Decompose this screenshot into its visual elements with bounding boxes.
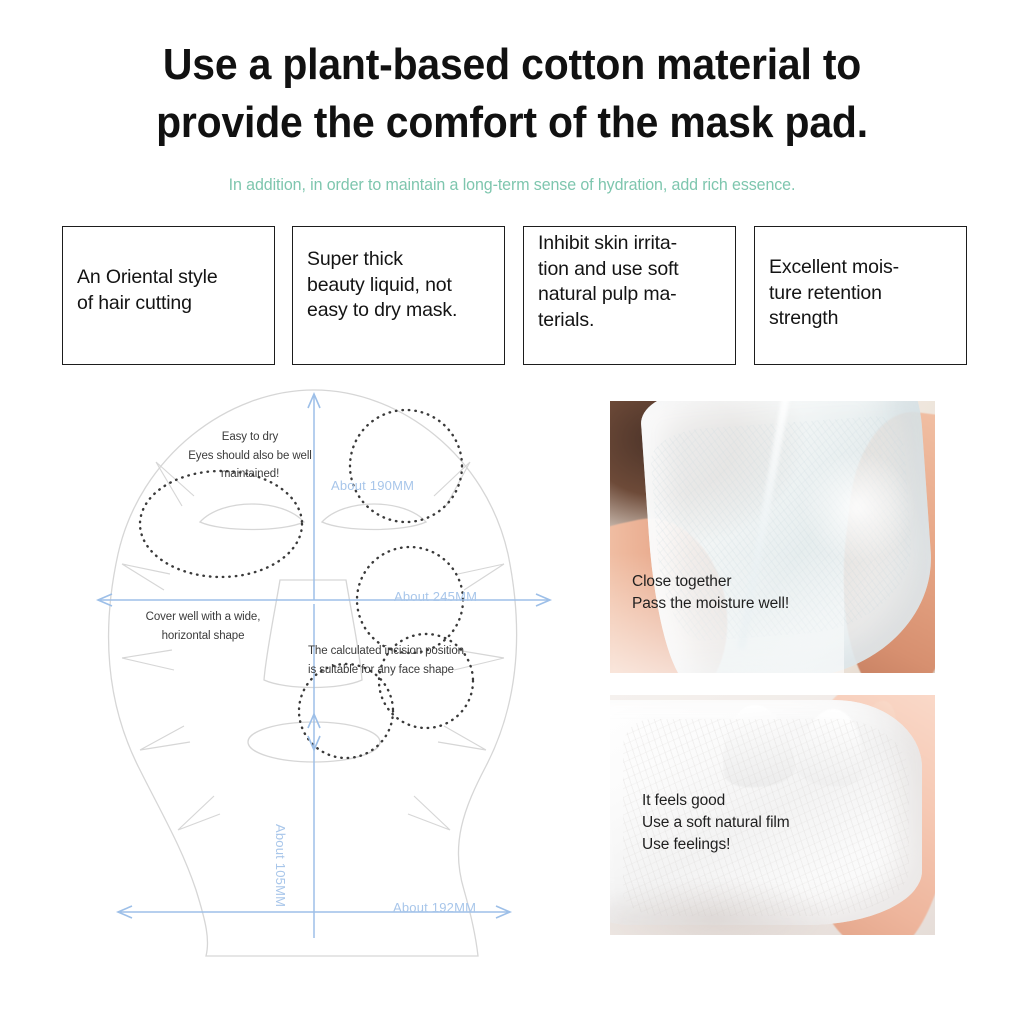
wet-sheet-mask-photo: Close together Pass the moisture well! bbox=[610, 401, 935, 673]
feature-box-4: Excellent mois- ture retention strength bbox=[754, 226, 967, 365]
feature-box-3: Inhibit skin irrita- tion and use soft n… bbox=[523, 226, 736, 365]
dimension-label-height-lower: About 105MM bbox=[273, 824, 288, 907]
feature-box-1: An Oriental style of hair cutting bbox=[62, 226, 275, 365]
highlight-top-right-slit bbox=[350, 410, 462, 522]
feature-box-2: Super thick beauty liquid, not easy to d… bbox=[292, 226, 505, 365]
annotation-eye-area: Easy to dry Eyes should also be well mai… bbox=[170, 428, 330, 484]
cotton-sheet-caption: It feels good Use a soft natural film Us… bbox=[642, 790, 790, 856]
feature-box-3-text: Inhibit skin irrita- tion and use soft n… bbox=[538, 231, 753, 334]
left-eye-opening bbox=[200, 504, 304, 530]
page-subtitle: In addition, in order to maintain a long… bbox=[15, 176, 1008, 195]
highlight-left-eye bbox=[140, 471, 302, 577]
annotation-incision: The calculated incision position is suit… bbox=[308, 642, 488, 679]
infographic-page: Use a plant-based cotton material to pro… bbox=[0, 0, 1024, 1024]
dimension-label-width-upper: About 245MM bbox=[394, 589, 477, 604]
annotation-coverage: Cover well with a wide, horizontal shape bbox=[118, 608, 288, 645]
dimension-label-height-upper: About 190MM bbox=[331, 478, 414, 493]
cotton-sheet-mask-photo: It feels good Use a soft natural film Us… bbox=[610, 695, 935, 935]
wet-sheet-scene bbox=[610, 401, 935, 673]
feature-box-4-text: Excellent mois- ture retention strength bbox=[769, 255, 984, 332]
wet-sheet-caption: Close together Pass the moisture well! bbox=[632, 571, 789, 615]
right-eye-opening bbox=[322, 504, 426, 530]
headline-line-1: Use a plant-based cotton material to bbox=[163, 40, 861, 89]
feature-box-2-text: Super thick beauty liquid, not easy to d… bbox=[307, 247, 522, 324]
feature-box-1-text: An Oriental style of hair cutting bbox=[77, 265, 292, 316]
sheet-shadow bbox=[610, 877, 831, 935]
feature-box-row: An Oriental style of hair cutting Super … bbox=[0, 226, 1024, 366]
highlight-glow bbox=[799, 450, 916, 564]
page-headline: Use a plant-based cotton material to pro… bbox=[36, 36, 988, 152]
headline-line-2: provide the comfort of the mask pad. bbox=[36, 94, 988, 152]
dimension-label-width-lower: About 192MM bbox=[393, 900, 476, 915]
